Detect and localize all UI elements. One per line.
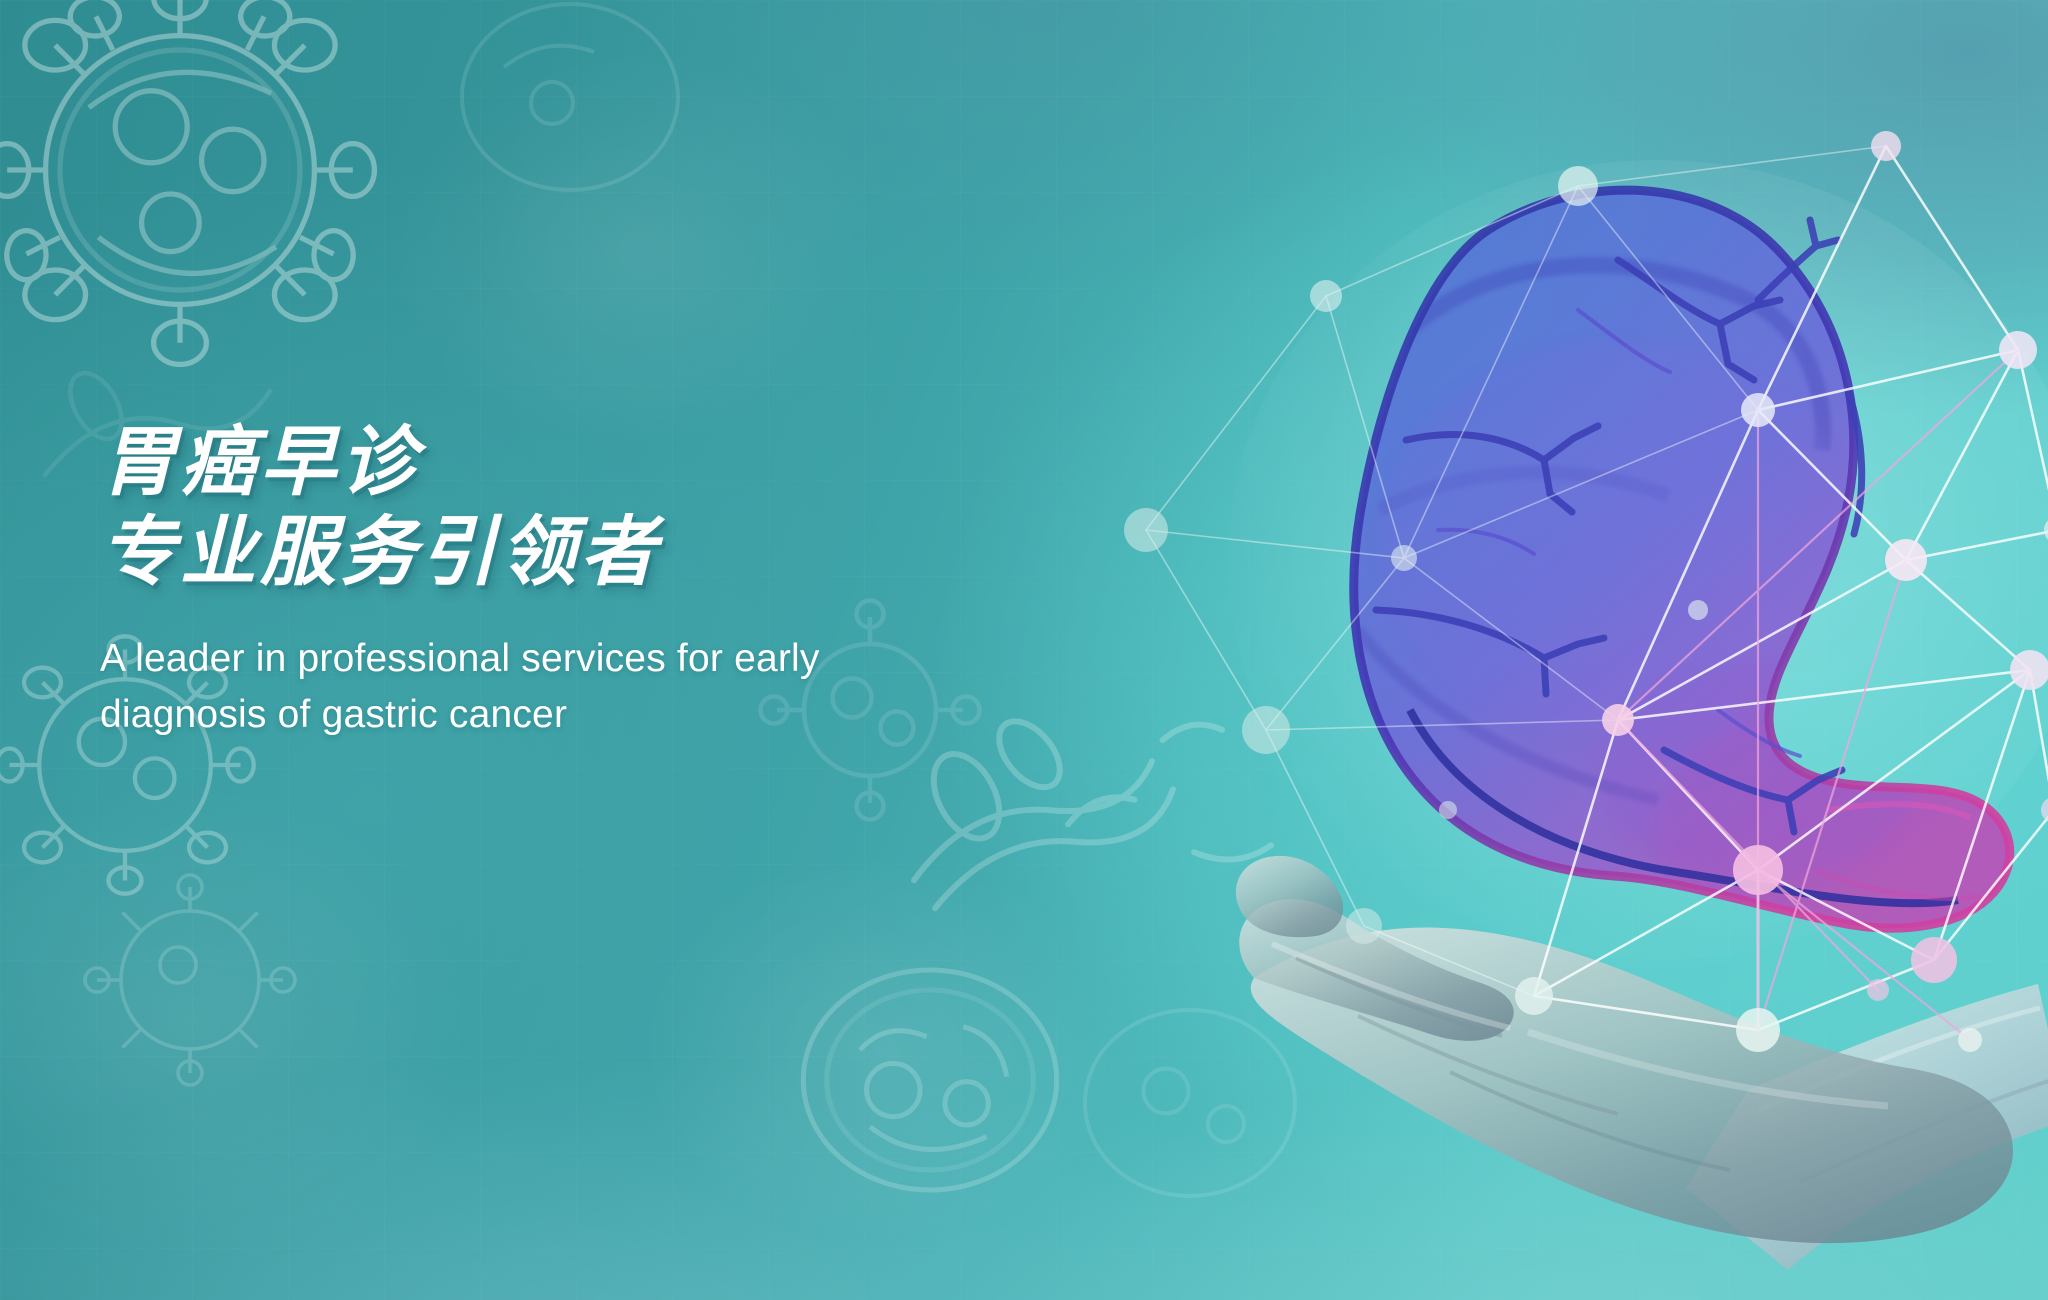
headline-line-1: 胃癌早诊 [100, 418, 1160, 508]
banner-copy: 胃癌早诊 专业服务引领者 A leader in professional se… [100, 418, 1160, 742]
banner-subheadline: A leader in professional services for ea… [100, 631, 1110, 742]
subheadline-line-1: A leader in professional services for ea… [100, 631, 1110, 686]
headline-line-2: 专业服务引领者 [100, 508, 1160, 598]
banner-headline: 胃癌早诊 专业服务引领者 [100, 418, 1160, 597]
subheadline-line-2: diagnosis of gastric cancer [100, 687, 1110, 742]
hero-banner: 胃癌早诊 专业服务引领者 A leader in professional se… [0, 0, 2048, 1300]
